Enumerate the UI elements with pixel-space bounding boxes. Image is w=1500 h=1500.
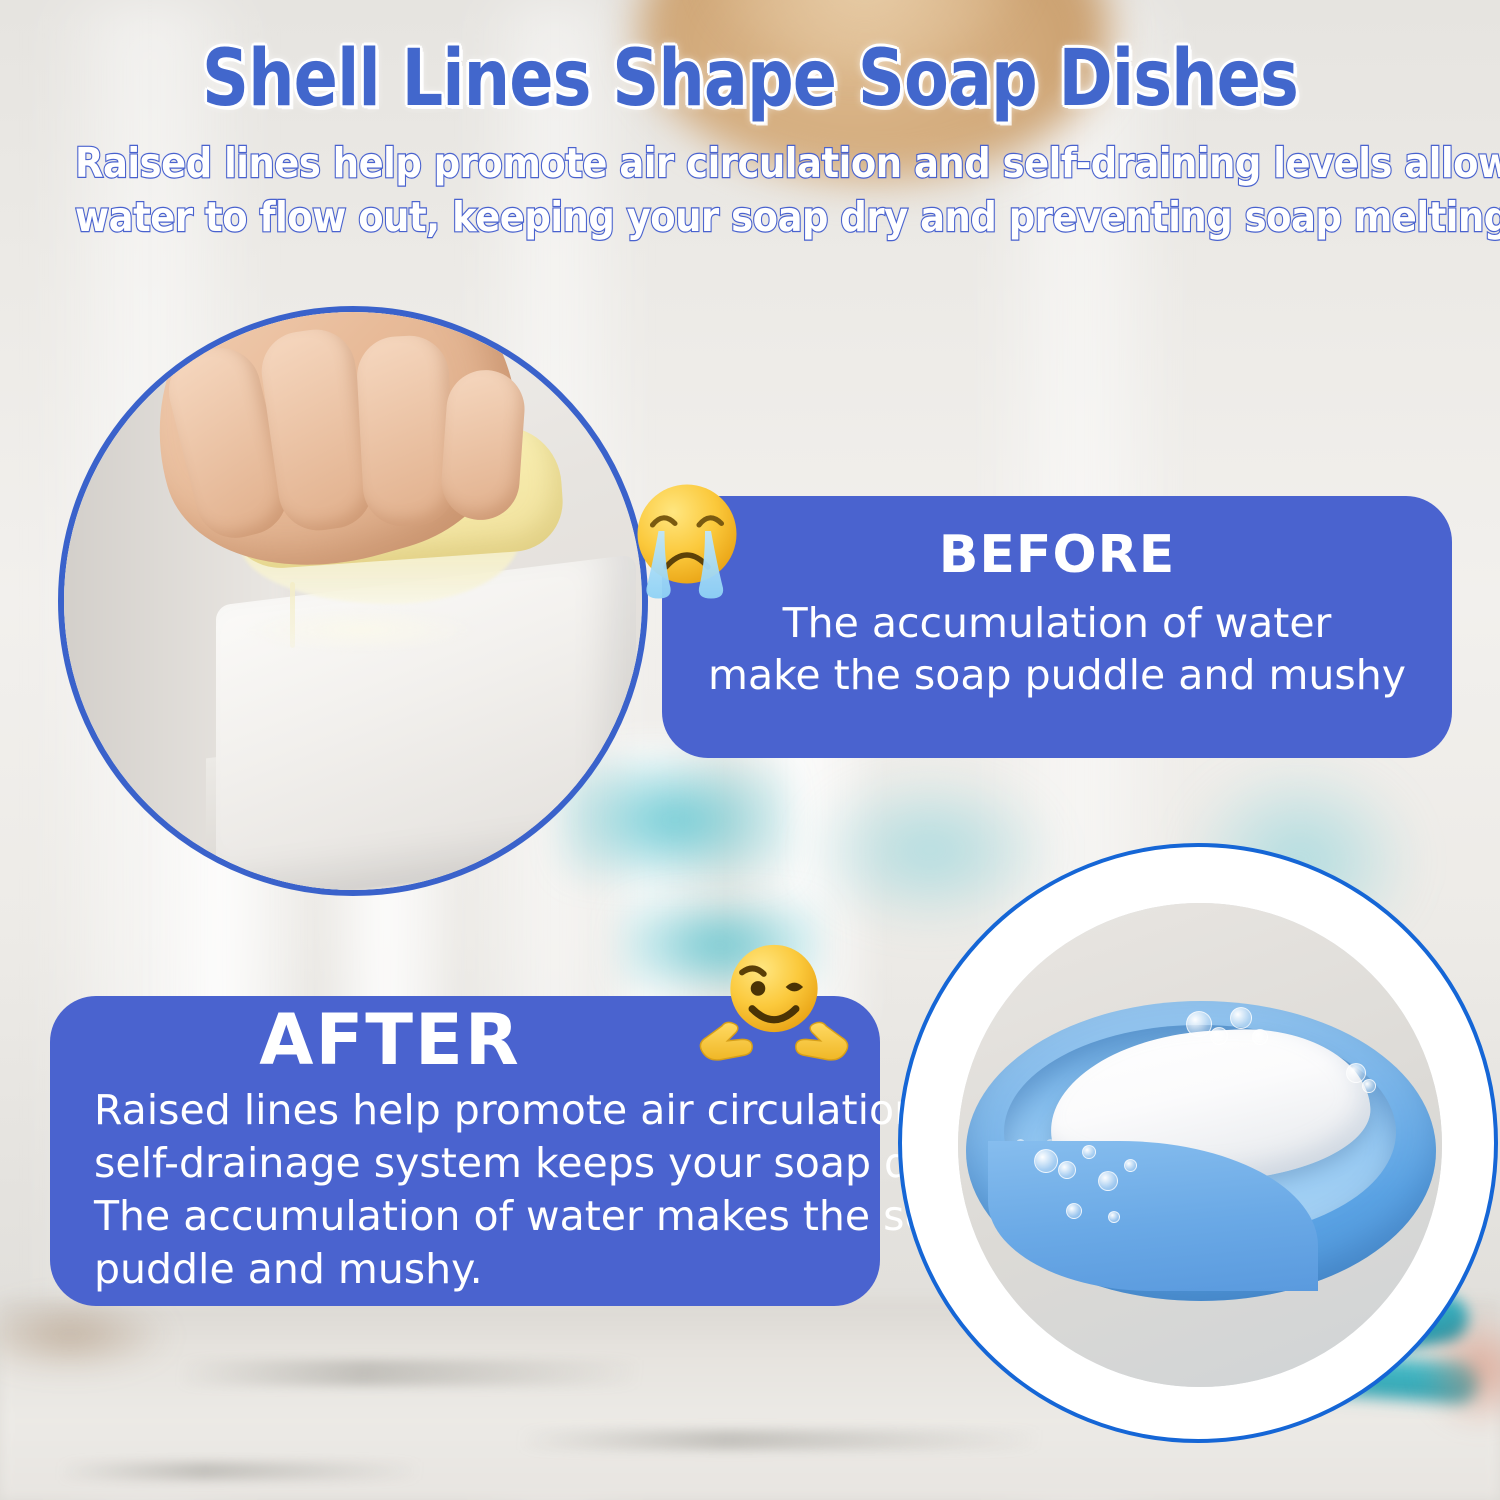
after-body-line-3: The accumulation of water makes the soap [94,1190,854,1243]
soap-bubble [1034,1149,1058,1173]
soap-bubble [1108,1211,1120,1223]
background-brown-accent [0,1300,170,1370]
soap-bubble [1346,1063,1366,1083]
winking-face-with-pointing-hands-svg [694,928,854,1078]
loudly-crying-face-icon [612,468,762,639]
before-soap-puddle [246,608,476,652]
before-finger [355,334,457,529]
background-marble-vein [180,1360,640,1386]
before-callout-panel: BEFORE The accumulation of water make th… [662,496,1452,758]
soap-bubble [1252,1029,1268,1045]
soap-bubble [1186,1011,1212,1037]
soap-bubble [1058,1161,1076,1179]
winking-face-with-pointing-hands-icon [694,928,854,1100]
after-photo [958,903,1442,1387]
soap-bubble [1098,1171,1118,1191]
header: Shell Lines Shape Soap Dishes Raised lin… [0,0,1500,244]
page-title: Shell Lines Shape Soap Dishes [53,34,1448,124]
soap-bubble [1210,1027,1228,1045]
before-body-line-1: The accumulation of water [662,597,1452,649]
before-photo [58,306,648,896]
soap-bubble [1362,1079,1376,1093]
before-thumb [439,367,527,522]
soap-bubble [1230,1007,1252,1029]
before-soap-drip [290,582,295,648]
page-subtitle: Raised lines help promote air circulatio… [75,136,1425,244]
background-marble-vein [520,1430,1040,1450]
soap-bubble [1066,1203,1082,1219]
after-body-line-2: self-drainage system keeps your soap dry… [94,1137,854,1190]
soap-bubble [1124,1159,1137,1172]
after-body: Raised lines help promote air circulatio… [76,1084,854,1297]
page-subtitle-line-2: water to flow out, keeping your soap dry… [75,190,1425,244]
after-photo-ring [898,843,1498,1443]
loudly-crying-face-svg [612,468,762,618]
before-heading: BEFORE [662,528,1452,583]
before-body-line-2: make the soap puddle and mushy [662,649,1452,701]
before-body: The accumulation of water make the soap … [662,597,1452,702]
page-subtitle-line-1: Raised lines help promote air circulatio… [75,136,1425,190]
before-soap-block [216,554,636,896]
after-body-line-4: puddle and mushy. [94,1243,854,1296]
soap-bubble [1082,1145,1096,1159]
background-marble-vein [60,1462,420,1480]
